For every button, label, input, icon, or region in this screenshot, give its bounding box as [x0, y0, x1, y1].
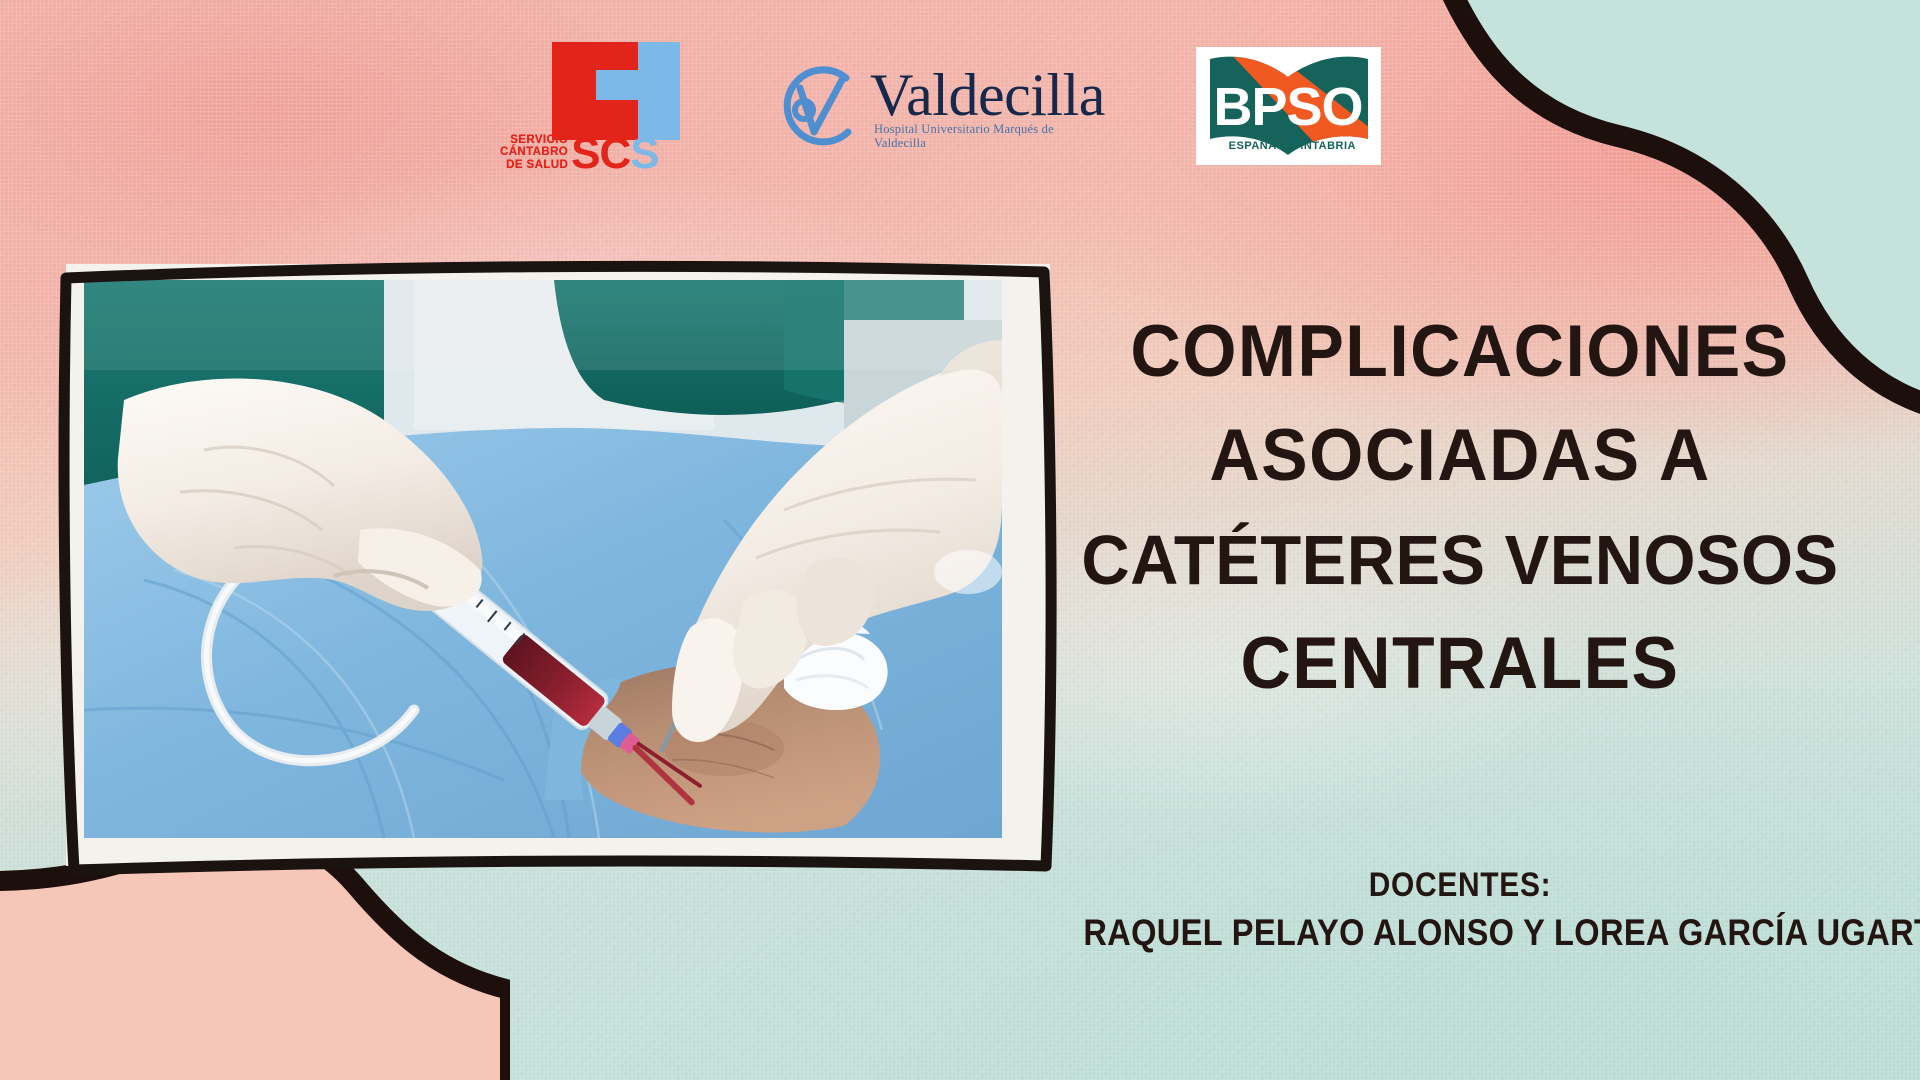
page-title: COMPLICACIONES ASOCIADAS A CATÉTERES VEN…: [1032, 300, 1888, 716]
catheter-insertion-photo: [84, 280, 1002, 838]
valdecilla-text: Valdecilla Hospital Universitario Marqué…: [870, 62, 1108, 150]
photo-image: [84, 280, 1002, 838]
valdecilla-monogram-icon: [768, 58, 864, 154]
title-line-2: ASOCIADAS A: [1051, 404, 1868, 508]
logo-valdecilla: Valdecilla Hospital Universitario Marqué…: [768, 52, 1108, 160]
logo-scs: SERVICIO CÁNTABRO DE SALUD SCS: [500, 42, 680, 170]
scs-cross-icon: [552, 42, 680, 140]
title-line-3: CATÉTERES VENOSOS: [1051, 508, 1868, 612]
bpso-subtitle: ESPAÑA / CANTABRIA: [1229, 139, 1356, 152]
photo-frame: [52, 252, 1062, 880]
logo-bpso: BPSO ESPAÑA / CANTABRIA: [1196, 47, 1381, 165]
valdecilla-subtitle: Hospital Universitario Marqués de Valdec…: [870, 122, 1108, 150]
title-line-1: COMPLICACIONES: [1051, 300, 1868, 404]
scs-initials-red: SC: [571, 129, 630, 178]
title-line-4: CENTRALES: [1051, 612, 1868, 716]
scs-initials-blue: S: [630, 129, 658, 178]
presentation-slide: SERVICIO CÁNTABRO DE SALUD SCS Valdecill…: [0, 0, 1920, 1080]
scs-wordmark: SERVICIO CÁNTABRO DE SALUD SCS: [500, 134, 659, 172]
bpso-flag-icon: BPSO ESPAÑA / CANTABRIA: [1196, 47, 1381, 165]
scs-initials: SCS: [571, 136, 658, 172]
scs-subtitle: SERVICIO CÁNTABRO DE SALUD: [500, 134, 568, 172]
valdecilla-title: Valdecilla: [870, 66, 1108, 124]
credits-names: RAQUEL PELAYO ALONSO Y LOREA GARCÍA UGAR…: [1083, 908, 1836, 958]
credits-block: DOCENTES: RAQUEL PELAYO ALONSO Y LOREA G…: [1032, 862, 1888, 958]
bpso-title: BPSO: [1213, 77, 1362, 137]
credits-label: DOCENTES:: [1083, 862, 1836, 908]
logo-row: SERVICIO CÁNTABRO DE SALUD SCS Valdecill…: [500, 38, 1450, 173]
